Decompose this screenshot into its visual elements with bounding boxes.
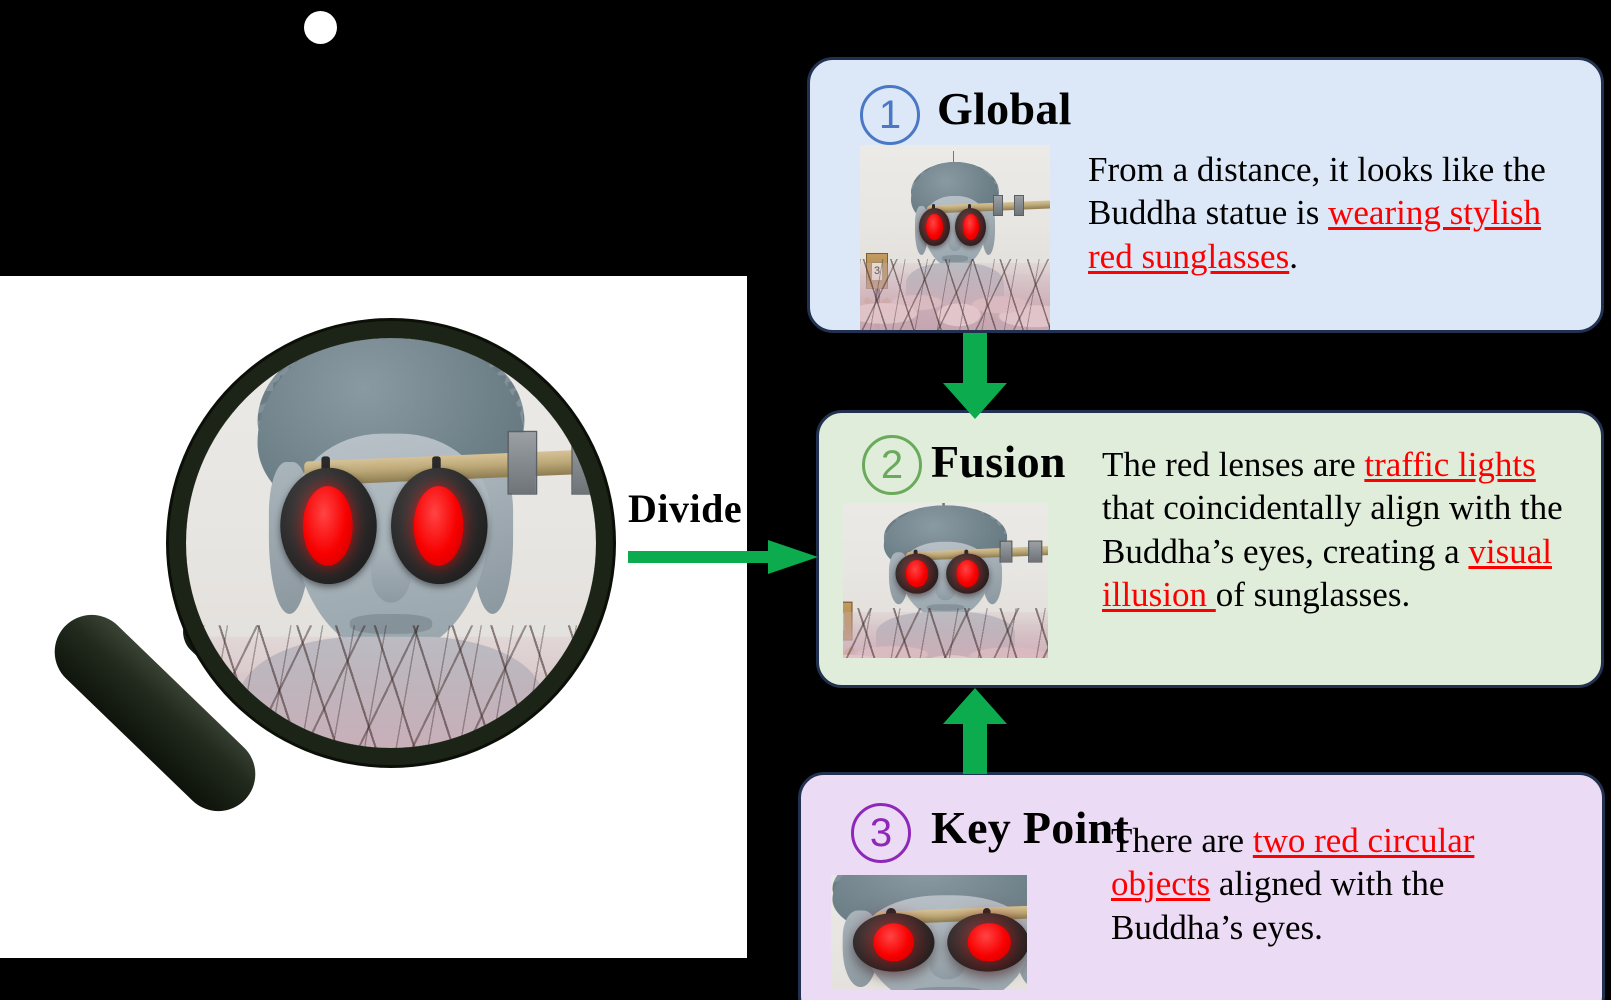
- body-text-run: There are: [1111, 821, 1253, 860]
- global-to-fusion-arrow: [943, 333, 1007, 419]
- buddha-traffic-light-thumbnail: 3: [843, 503, 1048, 658]
- panel-title-keypoint: Key Point: [931, 801, 1129, 854]
- left-image-canvas: [0, 276, 747, 958]
- panel-title-fusion: Fusion: [931, 435, 1066, 488]
- panel-text-fusion: The red lenses are traffic lights that c…: [1102, 443, 1592, 617]
- thumbnail-global: 3: [860, 145, 1050, 333]
- step-number-badge-1: 1: [860, 85, 920, 145]
- panel-text-keypoint: There are two red circular objects align…: [1111, 819, 1581, 949]
- buddha-traffic-light-thumbnail: [831, 875, 1027, 990]
- body-text-run: .: [1289, 237, 1298, 276]
- thumbnail-fusion: 3: [843, 503, 1048, 658]
- panel-title-global: Global: [937, 82, 1072, 135]
- divide-arrow: [628, 540, 818, 574]
- panel-text-global: From a distance, it looks like the Buddh…: [1088, 148, 1588, 278]
- panel-fusion[interactable]: 2 Fusion: [816, 410, 1604, 688]
- body-text-run: of sunglasses.: [1216, 575, 1410, 614]
- step-number-badge-3: 3: [851, 803, 911, 863]
- body-text-run: The red lenses are: [1102, 445, 1364, 484]
- white-dot-marker: [304, 11, 337, 44]
- figure-root: 3 Divide 1 Global: [0, 0, 1611, 1000]
- thumbnail-keypoint: [831, 875, 1027, 990]
- panel-global[interactable]: 1 Global: [807, 57, 1604, 333]
- step-number-badge-2: 2: [862, 435, 922, 495]
- highlighted-phrase: traffic lights: [1364, 445, 1535, 484]
- buddha-traffic-light-thumbnail: 3: [860, 145, 1050, 333]
- step-number-1: 1: [879, 95, 901, 135]
- divide-label-clip: Divide: [628, 478, 747, 540]
- keypoint-to-fusion-arrow: [943, 688, 1007, 774]
- panel-keypoint[interactable]: 3 Key Point: [798, 772, 1605, 1000]
- divide-label: Divide: [628, 485, 742, 532]
- step-number-3: 3: [870, 813, 892, 853]
- step-number-2: 2: [881, 445, 903, 485]
